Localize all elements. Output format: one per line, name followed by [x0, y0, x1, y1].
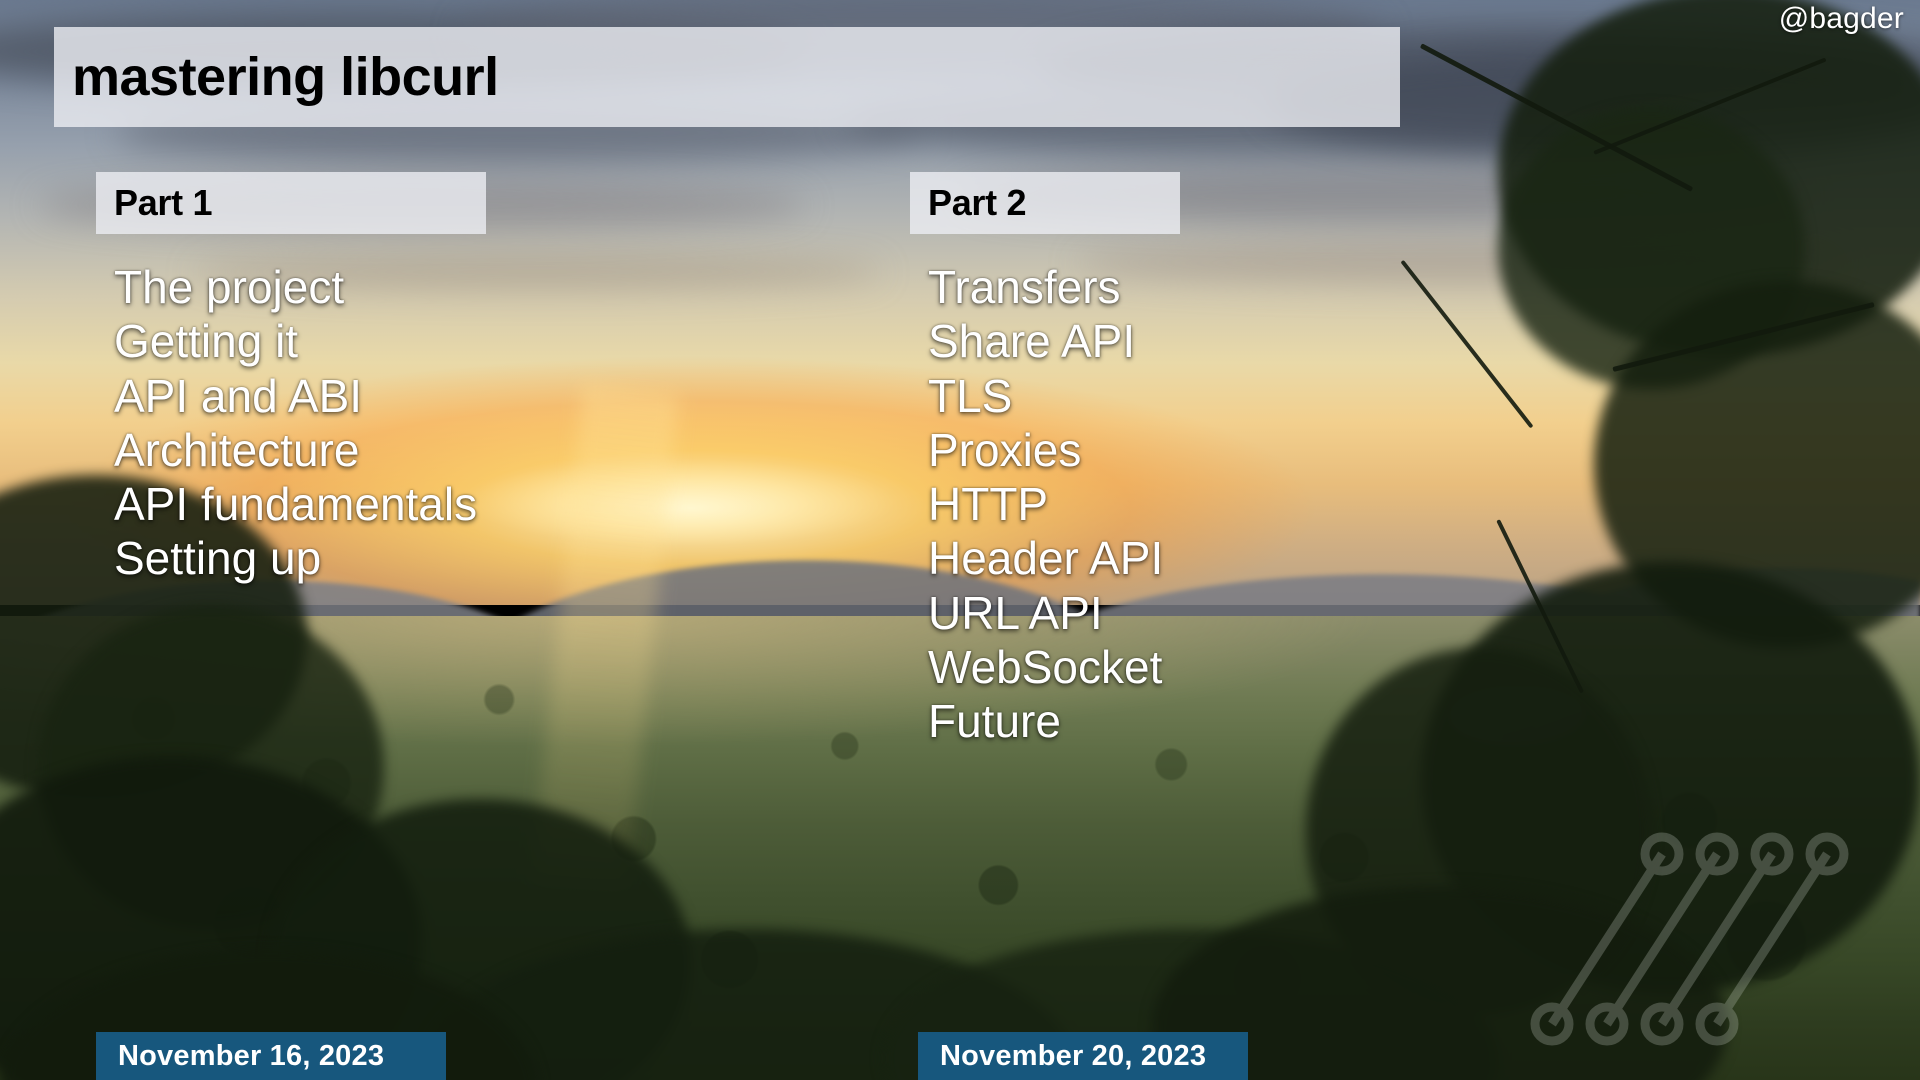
curl-logo-watermark-icon	[1512, 824, 1892, 1054]
list-item: Getting it	[114, 314, 486, 368]
date-badge-part-2: November 20, 2023	[918, 1032, 1248, 1080]
column-part-1: Part 1 The project Getting it API and AB…	[96, 172, 486, 586]
list-item: The project	[114, 260, 486, 314]
list-item: HTTP	[928, 477, 1180, 531]
list-item: WebSocket	[928, 640, 1180, 694]
page-title: mastering libcurl	[54, 46, 499, 108]
date-text: November 16, 2023	[118, 1040, 384, 1073]
cloud-streak	[1075, 242, 1843, 284]
date-text: November 20, 2023	[940, 1040, 1206, 1073]
list-item: API fundamentals	[114, 477, 486, 531]
part-1-label: Part 1	[114, 182, 212, 224]
part-2-topic-list: Transfers Share API TLS Proxies HTTP Hea…	[910, 260, 1180, 748]
list-item: TLS	[928, 369, 1180, 423]
list-item: Architecture	[114, 423, 486, 477]
list-item: Transfers	[928, 260, 1180, 314]
column-part-2: Part 2 Transfers Share API TLS Proxies H…	[910, 172, 1180, 748]
date-badge-part-1: November 16, 2023	[96, 1032, 446, 1080]
list-item: Proxies	[928, 423, 1180, 477]
list-item: URL API	[928, 586, 1180, 640]
part-2-header: Part 2	[910, 172, 1180, 234]
part-1-topic-list: The project Getting it API and ABI Archi…	[96, 260, 486, 586]
title-bar: mastering libcurl	[54, 27, 1400, 127]
list-item: Share API	[928, 314, 1180, 368]
part-2-label: Part 2	[928, 182, 1026, 224]
list-item: Setting up	[114, 531, 486, 585]
list-item: Header API	[928, 531, 1180, 585]
part-1-header: Part 1	[96, 172, 486, 234]
slide-root: @bagder mastering libcurl Part 1 The pro…	[0, 0, 1920, 1080]
list-item: API and ABI	[114, 369, 486, 423]
author-handle: @bagder	[1779, 2, 1904, 36]
list-item: Future	[928, 694, 1180, 748]
